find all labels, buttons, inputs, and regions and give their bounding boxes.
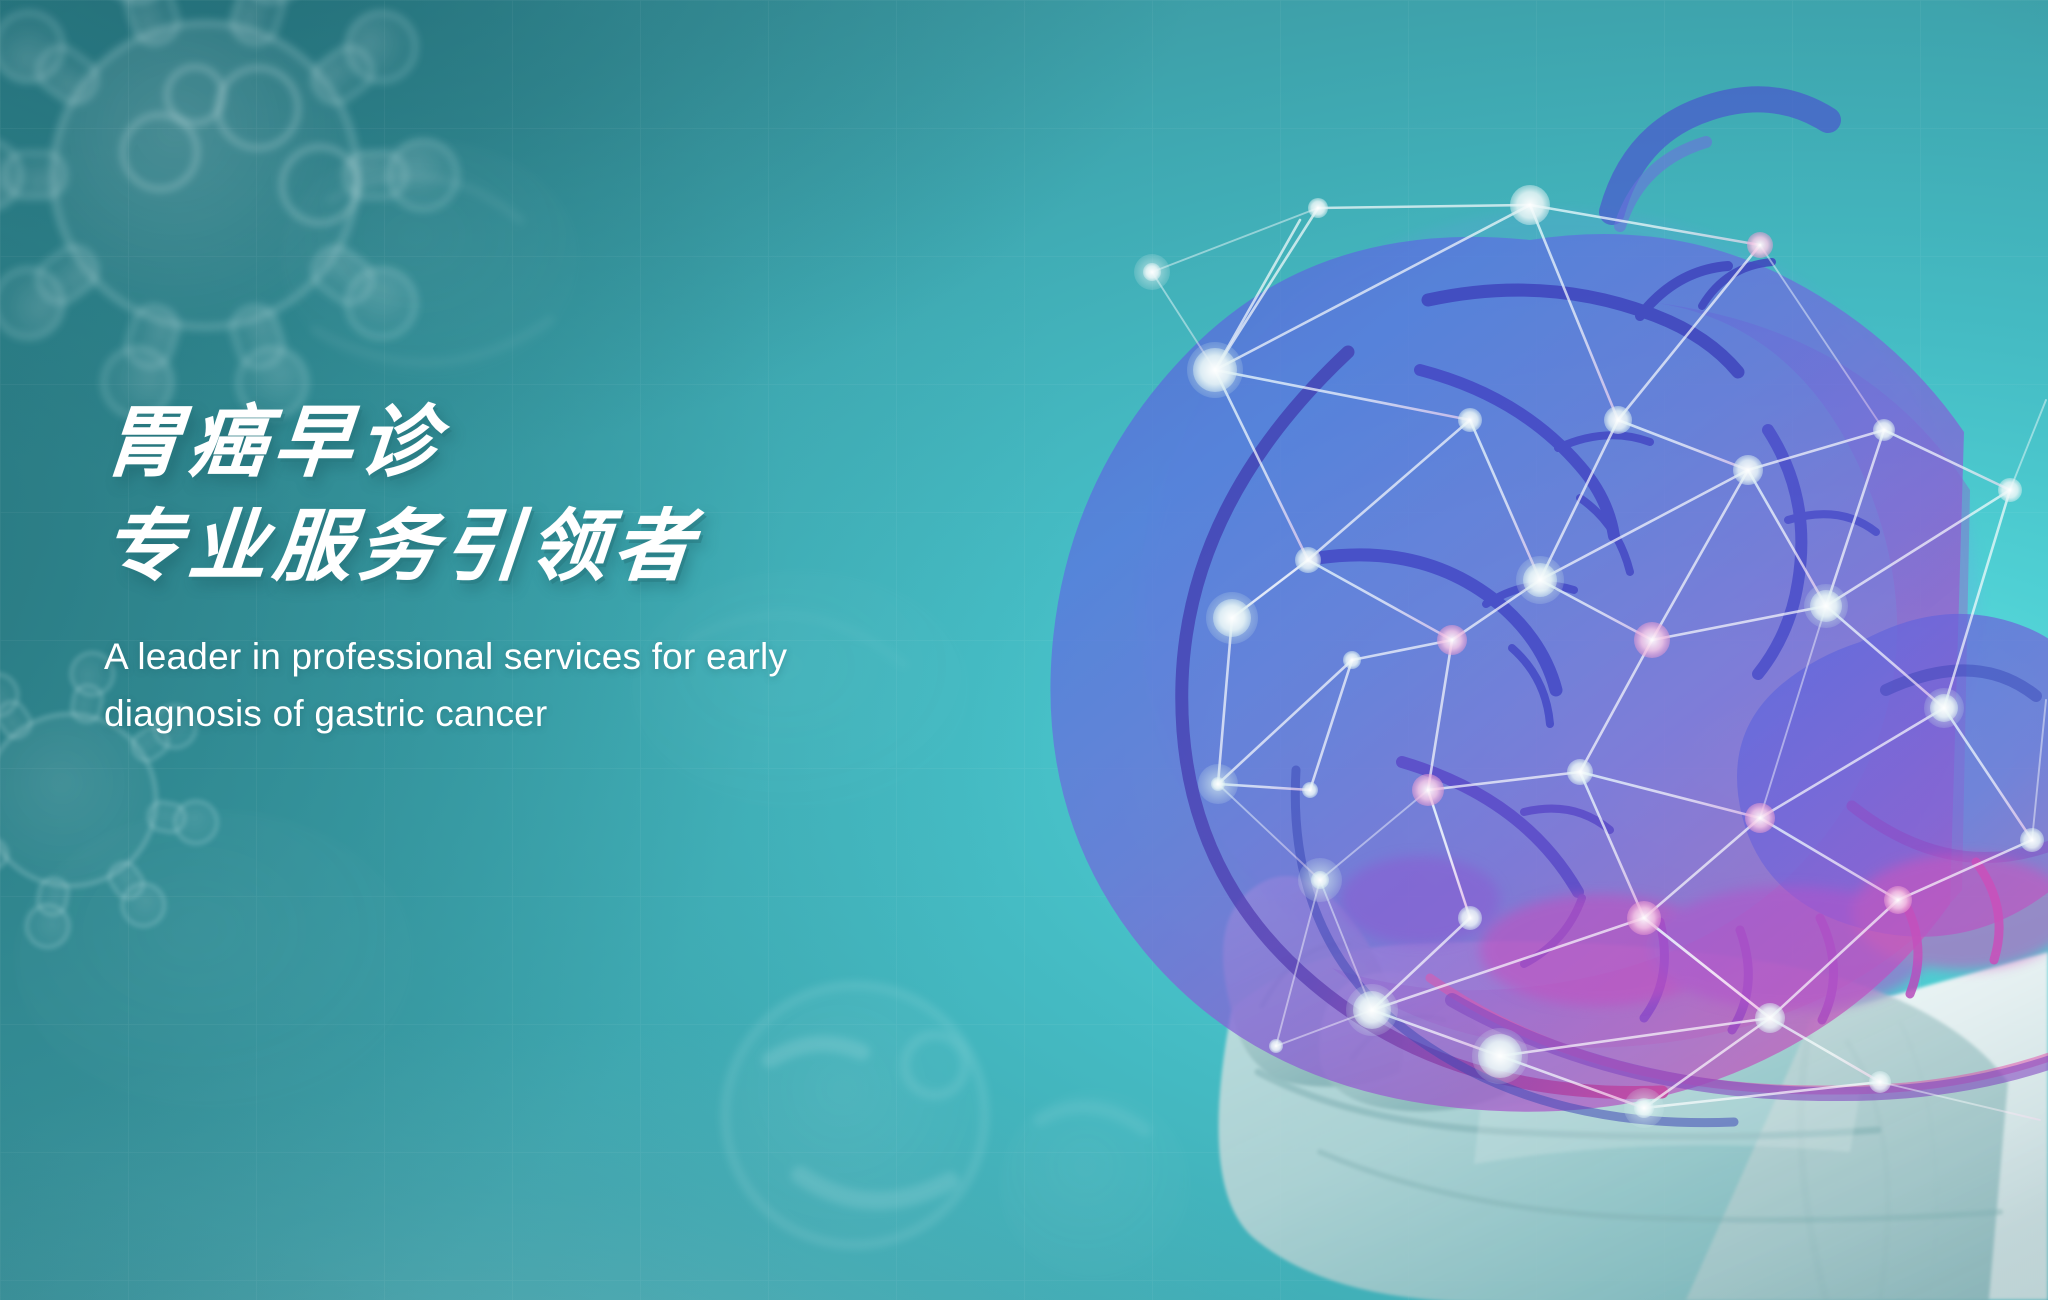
hero-banner: 胃癌早诊 专业服务引领者 A leader in professional se…: [0, 0, 2048, 1300]
background-vignette: [0, 0, 2048, 1300]
